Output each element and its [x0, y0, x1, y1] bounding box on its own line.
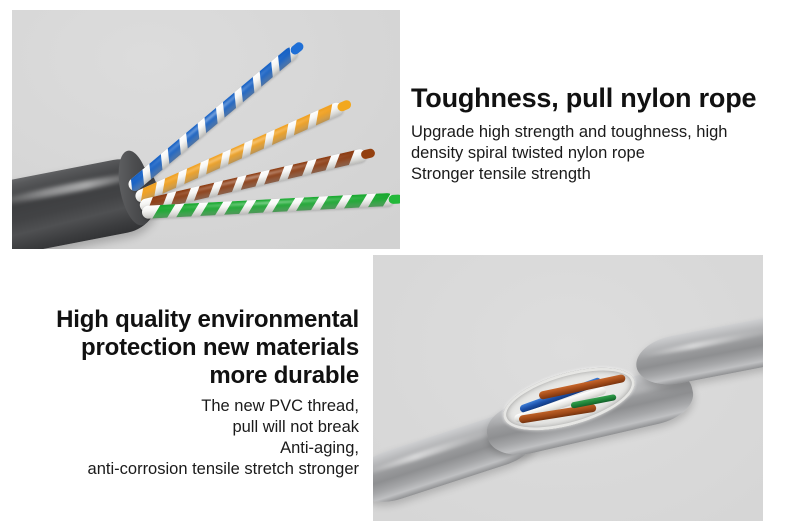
cable-segment-right [632, 311, 763, 391]
materials-headline: High quality environmental protection ne… [18, 306, 359, 390]
toughness-text-block: Toughness, pull nylon rope Upgrade high … [411, 82, 791, 185]
materials-body-line-3: Anti-aging, [18, 438, 359, 459]
green-wire-tip [388, 194, 400, 204]
orange-wire-tip [336, 99, 352, 113]
materials-body-line-1: The new PVC thread, [18, 396, 359, 417]
toughness-body: Upgrade high strength and toughness, hig… [411, 122, 791, 185]
brown-wire-tip [360, 148, 376, 160]
materials-body-line-4: anti-corrosion tensile stretch stronger [18, 459, 359, 480]
materials-headline-line-1: High quality environmental [18, 306, 359, 334]
toughness-body-line-2: density spiral twisted nylon rope [411, 143, 791, 164]
toughness-body-line-3: Stronger tensile strength [411, 164, 791, 185]
materials-text-block: High quality environmental protection ne… [18, 306, 359, 480]
materials-headline-line-3: more durable [18, 362, 359, 390]
materials-headline-line-2: protection new materials [18, 334, 359, 362]
toughness-body-line-1: Upgrade high strength and toughness, hig… [411, 122, 791, 143]
toughness-headline: Toughness, pull nylon rope [411, 82, 791, 114]
cable-jacket-photo [373, 255, 763, 521]
materials-body-line-2: pull will not break [18, 417, 359, 438]
materials-body: The new PVC thread, pull will not break … [18, 396, 359, 480]
cable-pairs-photo [12, 10, 400, 249]
